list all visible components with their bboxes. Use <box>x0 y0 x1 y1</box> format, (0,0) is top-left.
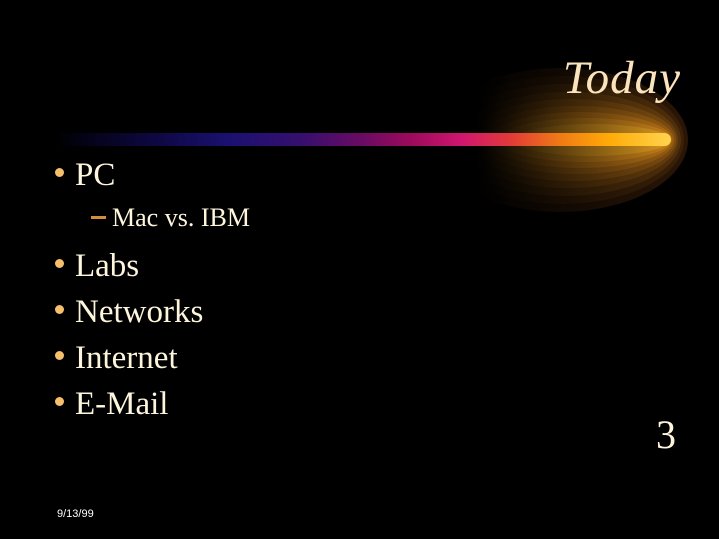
list-item: Internet <box>55 342 475 388</box>
bullet-dot-icon <box>55 259 64 268</box>
list-item: Mac vs. IBM <box>55 205 475 250</box>
presentation-slide: Today PC Mac vs. IBM Labs Networks Inter… <box>0 0 719 539</box>
list-item: E-Mail <box>55 388 475 434</box>
bullet-dot-icon <box>55 397 64 406</box>
date-stamp: 9/13/99 <box>57 508 94 520</box>
page-number: 3 <box>656 415 676 455</box>
list-item-label: Networks <box>75 296 203 329</box>
bullet-dot-icon <box>55 305 64 314</box>
bullet-dot-icon <box>55 168 64 177</box>
page-title: Today <box>563 55 681 102</box>
list-item: Labs <box>55 250 475 296</box>
bullet-dash-icon <box>91 216 106 219</box>
list-item: Networks <box>55 296 475 342</box>
bullet-dot-icon <box>55 351 64 360</box>
list-item-label: Internet <box>75 342 178 375</box>
list-item-label: PC <box>75 159 115 192</box>
list-item-label: E-Mail <box>75 388 168 421</box>
list-item-label: Labs <box>75 250 139 283</box>
list-item: PC <box>55 159 475 205</box>
list-item-label: Mac vs. IBM <box>112 205 250 231</box>
bullet-list: PC Mac vs. IBM Labs Networks Internet E-… <box>55 159 475 434</box>
